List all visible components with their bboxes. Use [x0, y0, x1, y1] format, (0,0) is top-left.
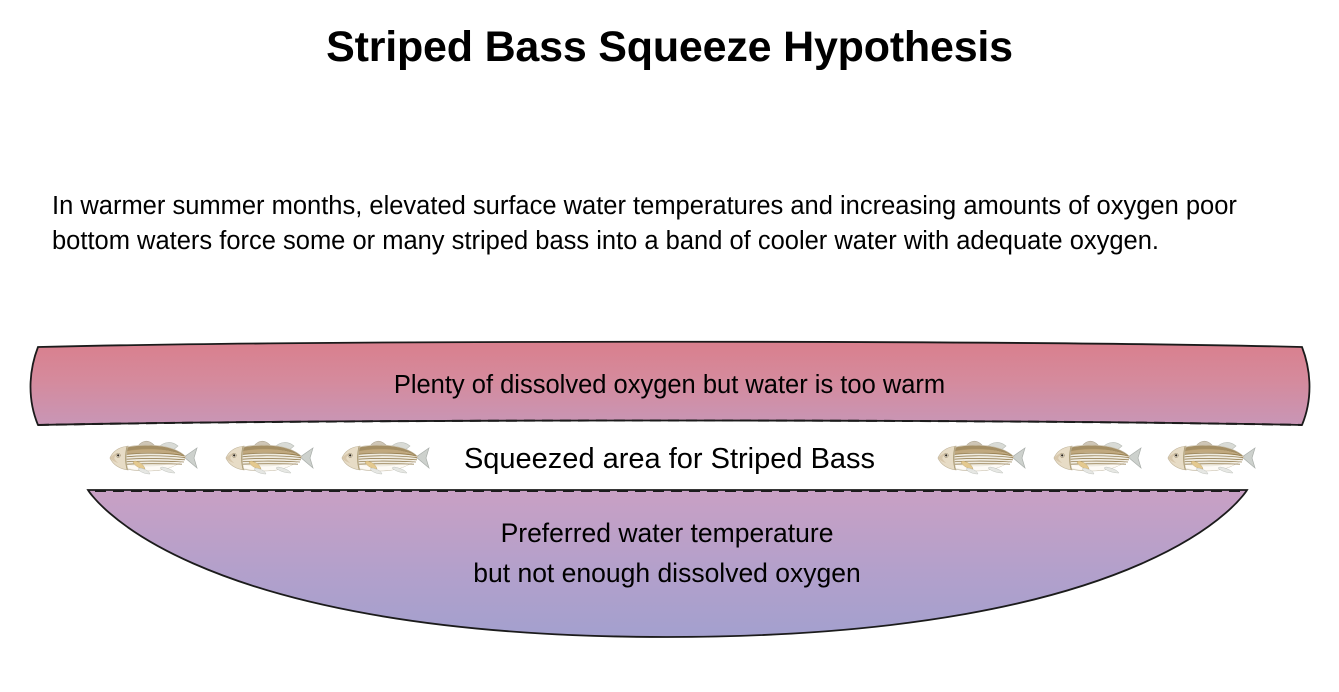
squeezed-band-label: Squeezed area for Striped Bass — [464, 443, 875, 475]
striped-bass-fish — [1168, 441, 1255, 474]
striped-bass-fish — [110, 441, 197, 474]
top-band-label: Plenty of dissolved oxygen but water is … — [394, 371, 945, 399]
body-paragraph: In warmer summer months, elevated surfac… — [52, 189, 1295, 258]
striped-bass-fish — [1054, 441, 1141, 474]
squeezed-band: Squeezed area for Striped Bass — [110, 441, 1255, 475]
diagram-svg: Plenty of dissolved oxygen but water is … — [0, 335, 1339, 655]
fish-group-left — [110, 441, 429, 474]
striped-bass-fish — [226, 441, 313, 474]
page-title: Striped Bass Squeeze Hypothesis — [0, 23, 1339, 71]
slide-canvas: Striped Bass Squeeze Hypothesis In warme… — [0, 0, 1339, 692]
squeeze-diagram: Plenty of dissolved oxygen but water is … — [0, 335, 1339, 655]
striped-bass-fish — [938, 441, 1025, 474]
fish-group-right — [938, 441, 1255, 474]
bottom-band-label-line2: but not enough dissolved oxygen — [473, 558, 861, 588]
bottom-water-band: Preferred water temperature but not enou… — [88, 490, 1247, 637]
bottom-band-label-line1: Preferred water temperature — [501, 518, 834, 548]
top-water-band: Plenty of dissolved oxygen but water is … — [31, 342, 1310, 425]
striped-bass-fish — [342, 441, 429, 474]
